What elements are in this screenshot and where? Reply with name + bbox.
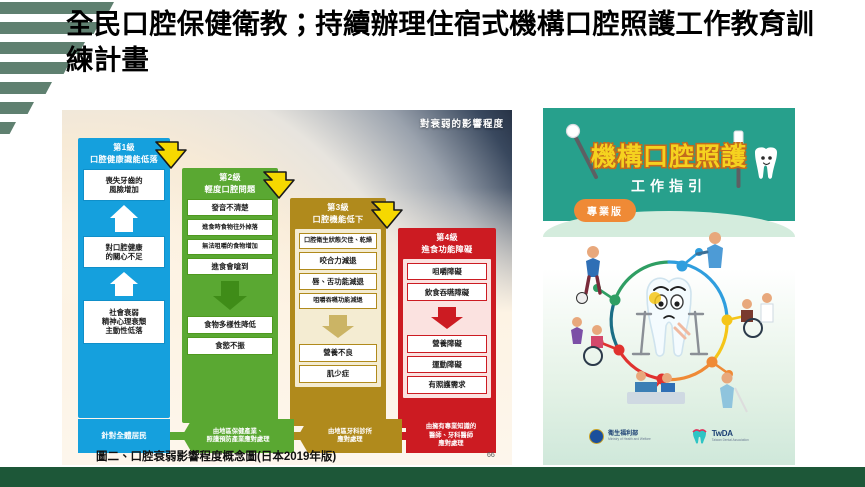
mohw-subtitle: Ministry of Health and Welfare	[608, 438, 651, 441]
level-2-column: 第2級 輕度口腔問題 發音不清楚 進食時食物往外掉落 無法咀嚼的食物增加 進食會…	[182, 168, 278, 423]
level-2-item: 進食時食物往外掉落	[187, 219, 273, 235]
level-3-item: 營養不良	[299, 344, 377, 362]
transition-arrow-1-to-2	[154, 140, 188, 170]
figure-caption: 圖二、口腔衰弱影響程度概念圖(日本2019年版)	[96, 448, 336, 464]
figure-hospital-bed	[627, 371, 685, 404]
level-2-name: 輕度口腔問題	[205, 185, 256, 194]
level-2-item: 無法咀嚼的食物增加	[187, 239, 273, 255]
transition-arrow-3-to-4	[370, 200, 404, 230]
level-4-item: 有照護需求	[407, 376, 487, 394]
level-3-column: 第3級 口腔機能低下 口腔衛生狀態欠佳、乾燥 咬合力減退 唇、舌功能減退 咀嚼吞…	[290, 198, 386, 426]
level-3-item: 咬合力減退	[299, 252, 377, 270]
poster-title: 機構口腔照護	[543, 137, 795, 173]
level-1-items: 喪失牙齒的 風險增加 對口腔健康 的關心不足 社會衰弱 精神心理衰頹 主動性低落	[83, 169, 165, 344]
level-2-item: 食慾不振	[187, 337, 273, 355]
figure-caregiver-wheelchair-left	[571, 317, 603, 365]
central-tooth-mascot	[633, 278, 707, 356]
page-number: 66	[487, 452, 495, 459]
level-3-items: 口腔衛生狀態欠佳、乾燥 咬合力減退 唇、舌功能減退 咀嚼吞嚥功能減退 營養不良 …	[295, 229, 381, 387]
level-4-item: 飲食吞嚥障礙	[407, 283, 487, 301]
level-3-item: 口腔衛生狀態欠佳、乾燥	[299, 233, 377, 249]
figure-visually-impaired	[720, 373, 747, 413]
twda-name: TwDA	[712, 430, 749, 438]
level-2-item: 食物多樣性降低	[187, 316, 273, 334]
level-2-item: 進食會嗆到	[187, 258, 273, 276]
poster-logos: 衛生福利部 Ministry of Health and Welfare TwD…	[543, 423, 795, 449]
level-4-column: 第4級 進食功能障礙 咀嚼障礙 飲食吞嚥障礙 營養障礙 運動障礙 有照護需求	[398, 228, 496, 428]
mohw-seal-icon	[589, 429, 604, 444]
level-4-item: 咀嚼障礙	[407, 263, 487, 281]
transition-arrow-2-to-3	[262, 170, 296, 200]
level-4-header: 第4級 進食功能障礙	[398, 228, 496, 259]
level-3-rank: 第3級	[327, 203, 349, 212]
level-4-rank: 第4級	[436, 233, 458, 242]
care-network-illustration	[549, 226, 789, 418]
guidebook-cover-poster: 機構口腔照護 工作指引 專業版	[543, 108, 795, 465]
slide-canvas: 全民口腔保健衛教；持續辦理住宿式機構口腔照護工作教育訓練計畫 對衰弱的影響程度 …	[0, 0, 865, 487]
impact-axis-label: 對衰弱的影響程度	[420, 116, 504, 130]
level-3-item: 肌少症	[299, 365, 377, 383]
twda-subtitle: Taiwan Dental Association	[712, 439, 749, 442]
level-2-rank: 第2級	[219, 173, 241, 182]
level-2-down-arrow	[210, 281, 250, 310]
level-4-item: 運動障礙	[407, 356, 487, 374]
level-2-item: 發音不清楚	[187, 199, 273, 217]
figure-elderly-wheelchair-right	[741, 293, 773, 337]
level-2-items: 發音不清楚 進食時食物往外掉落 無法咀嚼的食物增加 進食會嗆到 食物多樣性降低 …	[187, 199, 273, 355]
level-1-item: 對口腔健康 的關心不足	[83, 236, 165, 268]
figure-athlete	[577, 246, 601, 304]
oral-frailty-diagram: 對衰弱的影響程度 第1級 口腔健康識能低落 喪失牙齒的 風險增加 對口腔健康 的…	[62, 110, 512, 465]
poster-illustration	[543, 226, 795, 421]
page-title: 全民口腔保健衛教；持續辦理住宿式機構口腔照護工作教育訓練計畫	[66, 6, 836, 78]
level-4-items: 咀嚼障礙 飲食吞嚥障礙 營養障礙 運動障礙 有照護需求	[403, 259, 491, 398]
level-3-down-arrow	[318, 315, 358, 338]
poster-subtitle: 工作指引	[543, 176, 795, 196]
level-1-item: 社會衰弱 精神心理衰頹 主動性低落	[83, 300, 165, 344]
logo-mohw: 衛生福利部 Ministry of Health and Welfare	[589, 429, 651, 444]
level-1-name: 口腔健康識能低落	[90, 155, 158, 164]
level-1-up-arrow-2	[104, 272, 144, 296]
level-3-item: 咀嚼吞嚥功能減退	[299, 293, 377, 309]
level-4-name: 進食功能障礙	[422, 245, 473, 254]
level-1-item: 喪失牙齒的 風險增加	[83, 169, 165, 201]
mohw-name: 衛生福利部	[608, 431, 651, 437]
level-4-down-arrow	[427, 307, 467, 329]
level-1-column: 第1級 口腔健康識能低落 喪失牙齒的 風險增加 對口腔健康 的關心不足 社會衰弱…	[78, 138, 170, 418]
poster-edition-badge: 專業版	[574, 199, 636, 222]
level-1-rank: 第1級	[113, 143, 135, 152]
logo-twda: TwDA Taiwan Dental Association	[691, 428, 749, 444]
level-3-name: 口腔機能低下	[313, 215, 364, 224]
twda-tooth-icon	[691, 428, 708, 444]
level-3-item: 唇、舌功能減退	[299, 273, 377, 291]
level-1-up-arrow	[104, 205, 144, 232]
action-box-level-4: 由擁有專業知識的 醫師、牙科醫師 應對處理	[406, 419, 496, 453]
level-4-item: 營養障礙	[407, 335, 487, 353]
footer-bar	[0, 467, 865, 487]
